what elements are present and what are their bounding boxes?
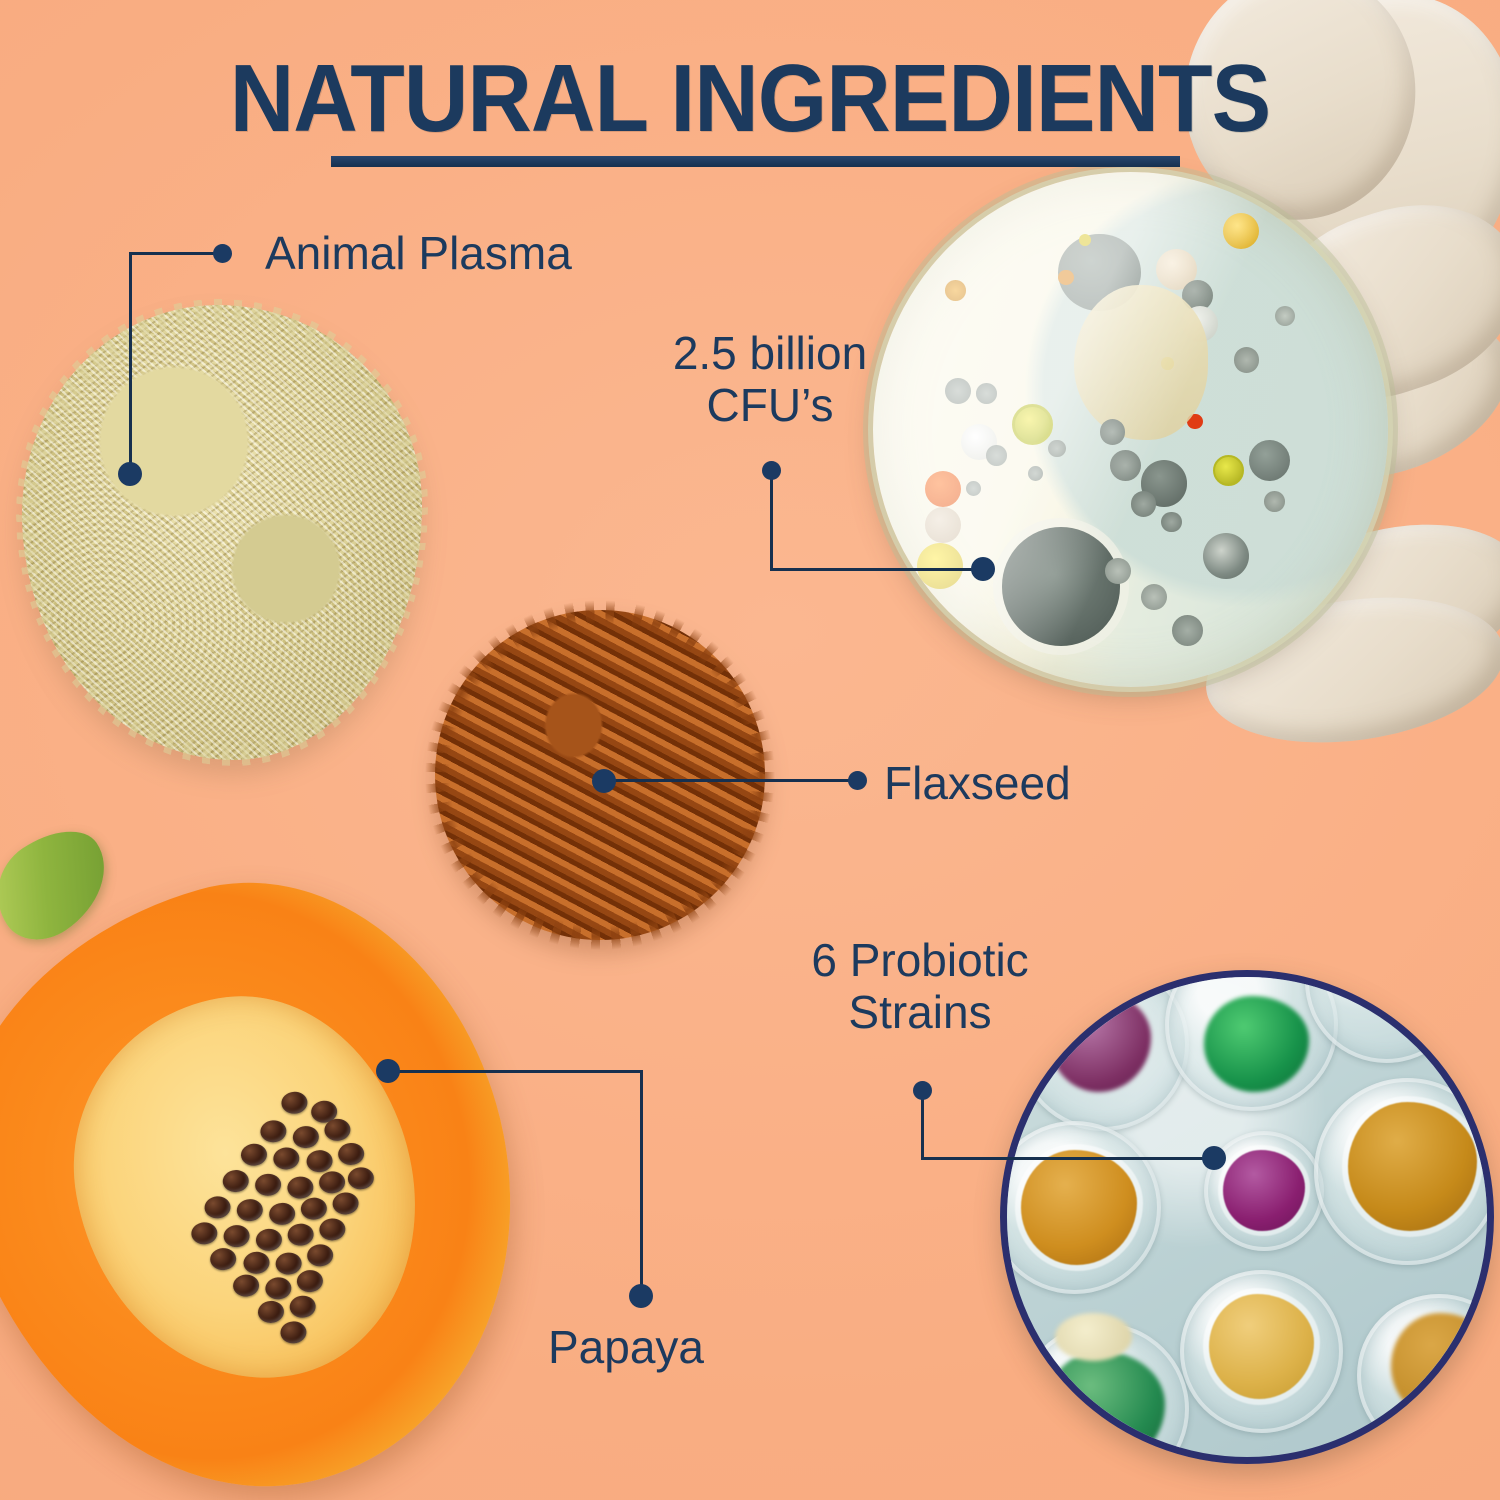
callout-label-cfu: 2.5 billion CFU’s [640,328,900,431]
leader-dot-probiotic-label [913,1081,932,1100]
leader-line-probiotic-horizontal [921,1157,1215,1160]
leader-line-papaya-horizontal [388,1070,642,1073]
callout-label-probiotic-strains: 6 Probiotic Strains [770,935,1070,1038]
leader-dot-flaxseed-target [592,769,616,793]
leader-dot-papaya-target [376,1059,400,1083]
leader-dot-probiotic-target [1202,1146,1226,1170]
leader-dot-cfu-label [762,461,781,480]
leader-line-animal-plasma-vertical [129,252,132,474]
papaya-seeds [112,1078,422,1374]
leader-line-cfu-horizontal [770,568,985,571]
leader-line-flaxseed-horizontal [604,779,854,782]
infographic-canvas: NATURAL INGREDIENTS Animal Plasma 2.5 bi… [0,0,1500,1500]
callout-label-papaya: Papaya [548,1322,704,1374]
papaya-half [0,827,582,1500]
leader-dot-papaya-label [629,1284,653,1308]
page-title: NATURAL INGREDIENTS [53,44,1448,154]
leader-line-animal-plasma-horizontal [130,252,226,255]
papaya-image [0,830,530,1500]
callout-label-flaxseed: Flaxseed [884,758,1071,810]
callout-label-animal-plasma: Animal Plasma [265,228,572,280]
leader-dot-animal-plasma-label [213,244,232,263]
petri-dish-image [855,130,1500,750]
animal-plasma-powder-image [22,305,422,760]
leader-line-cfu-vertical [770,470,773,569]
well-plate-image [1000,970,1494,1464]
petri-dish [873,172,1388,687]
leader-line-papaya-vertical [640,1070,643,1294]
leader-dot-animal-plasma-target [118,462,142,486]
leader-line-probiotic-vertical [921,1090,924,1159]
leader-dot-flaxseed-label [848,771,867,790]
leader-dot-cfu-target [971,557,995,581]
title-underline-bar [331,156,1180,167]
